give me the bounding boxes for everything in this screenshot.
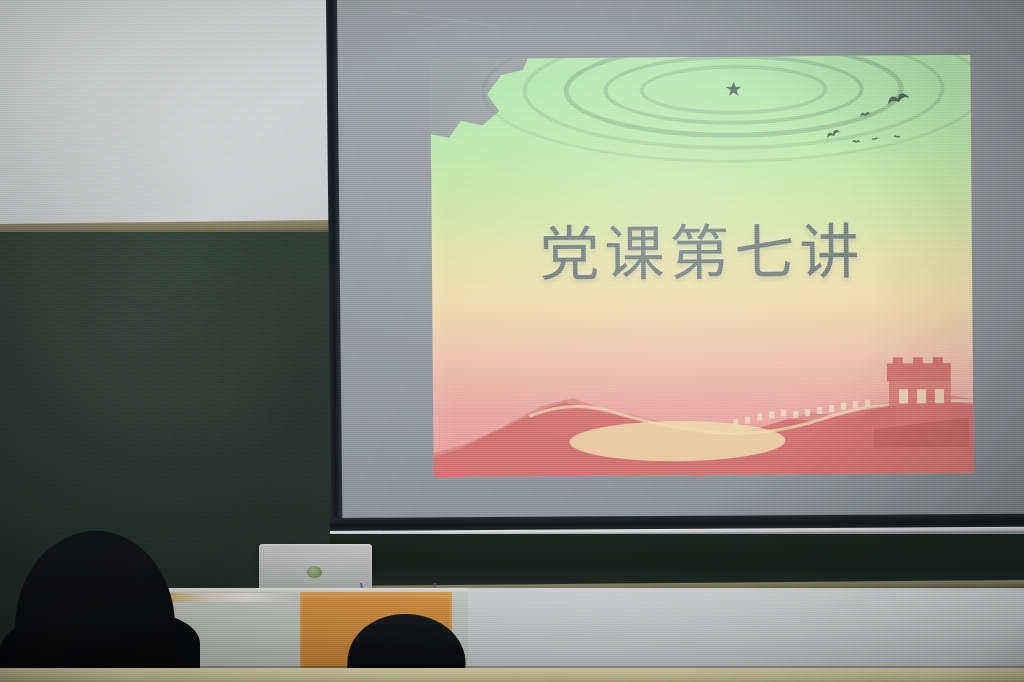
bird-icon bbox=[881, 82, 914, 115]
bird-icon bbox=[892, 133, 901, 142]
slide-title: 党课第七讲 bbox=[432, 203, 973, 294]
upper-wall bbox=[0, 0, 340, 232]
bird-icon bbox=[822, 123, 845, 146]
screen-crease bbox=[388, 10, 497, 26]
classroom-photo-scene: ★ 党课第七讲 bbox=[0, 0, 1024, 682]
bird-icon bbox=[870, 135, 880, 145]
front-desk-surface bbox=[0, 668, 1024, 682]
great-wall-landscape bbox=[432, 323, 973, 477]
desk-items bbox=[168, 593, 298, 602]
slide-edge-blot-shape bbox=[430, 55, 533, 169]
great-wall-tower-icon bbox=[873, 343, 970, 448]
laptop-logo-icon bbox=[307, 566, 322, 578]
birds-group bbox=[813, 75, 954, 166]
bird-icon bbox=[851, 137, 862, 148]
projected-slide: ★ 党课第七讲 bbox=[430, 55, 973, 477]
screen-crease bbox=[407, 19, 467, 35]
bird-icon bbox=[858, 107, 873, 122]
ripple-ring bbox=[639, 64, 827, 115]
blackboard-right bbox=[330, 534, 1024, 586]
